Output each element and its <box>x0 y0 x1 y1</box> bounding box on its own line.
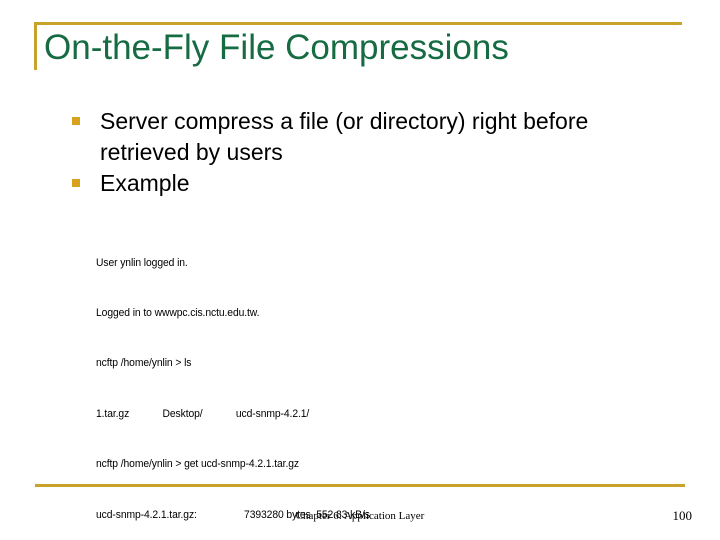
page-number: 100 <box>673 508 693 524</box>
footer-divider <box>35 484 685 487</box>
list-item-label: Server compress a file (or directory) ri… <box>100 106 670 168</box>
slide-canvas: On-the-Fly File Compressions Server comp… <box>0 0 720 540</box>
list-item: Example <box>70 168 670 199</box>
square-bullet-icon <box>72 179 80 187</box>
bullet-list: Server compress a file (or directory) ri… <box>70 106 670 199</box>
terminal-line: ncftp /home/ynlin > ls <box>96 355 641 372</box>
terminal-line: 1.tar.gz Desktop/ ucd-snmp-4.2.1/ <box>96 406 641 423</box>
terminal-line: User ynlin logged in. <box>96 255 641 272</box>
footer-chapter-label: Chapter 6: Application Layer <box>0 509 720 523</box>
title-left-rule <box>34 22 37 70</box>
square-bullet-icon <box>72 117 80 125</box>
title-top-rule <box>34 22 682 25</box>
terminal-line: ncftp /home/ynlin > get ucd-snmp-4.2.1.t… <box>96 456 641 473</box>
terminal-transcript: User ynlin logged in. Logged in to wwwpc… <box>96 221 641 540</box>
page-title: On-the-Fly File Compressions <box>44 27 684 69</box>
terminal-line: Logged in to wwwpc.cis.nctu.edu.tw. <box>96 305 641 322</box>
list-item-label: Example <box>100 168 670 199</box>
list-item: Server compress a file (or directory) ri… <box>70 106 670 168</box>
